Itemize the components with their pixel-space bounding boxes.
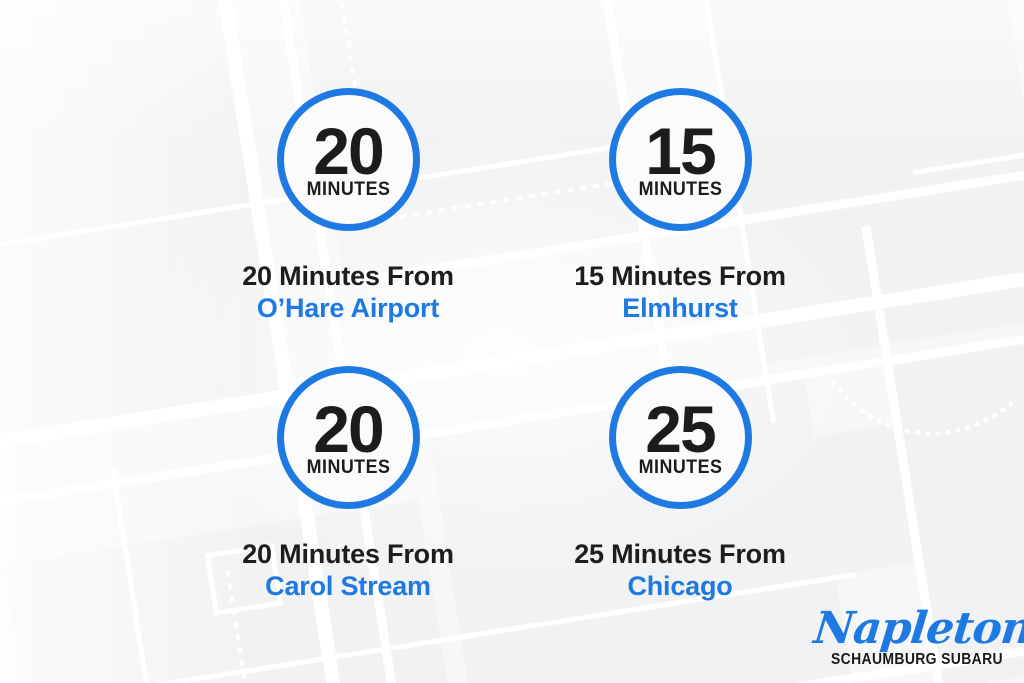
badge-unit-label: MINUTES (638, 180, 722, 199)
dealer-logo-wordmark: Napleton’s (812, 609, 1006, 649)
caption-primary: 25 Minutes From (470, 539, 890, 571)
minutes-badge: 20 MINUTES (277, 88, 420, 231)
minutes-badge: 25 MINUTES (609, 366, 752, 509)
drive-time-card-elmhurst: 15 MINUTES 15 Minutes From Elmhurst (470, 88, 890, 325)
badge-unit-label: MINUTES (306, 180, 390, 199)
badge-number: 20 (313, 124, 382, 178)
card-caption: 25 Minutes From Chicago (470, 539, 890, 603)
dealer-logo-subtitle: SCHAUMBURG SUBARU (831, 651, 1002, 669)
badge-number: 25 (645, 402, 714, 456)
minutes-badge: 15 MINUTES (609, 88, 752, 231)
caption-primary: 15 Minutes From (470, 261, 890, 293)
drive-times-graphic: 20 MINUTES 20 Minutes From O’Hare Airpor… (0, 0, 1024, 683)
minutes-badge: 20 MINUTES (277, 366, 420, 509)
badge-number: 20 (313, 402, 382, 456)
caption-location: Chicago (470, 571, 890, 603)
card-caption: 15 Minutes From Elmhurst (470, 261, 890, 325)
caption-location: Elmhurst (470, 293, 890, 325)
badge-number: 15 (645, 124, 714, 178)
badge-unit-label: MINUTES (638, 458, 722, 477)
badge-unit-label: MINUTES (306, 458, 390, 477)
dealer-logo: Napleton’s SCHAUMBURG SUBARU (812, 609, 1002, 669)
drive-time-card-chicago: 25 MINUTES 25 Minutes From Chicago (470, 366, 890, 603)
drive-times-grid: 20 MINUTES 20 Minutes From O’Hare Airpor… (0, 0, 1024, 683)
